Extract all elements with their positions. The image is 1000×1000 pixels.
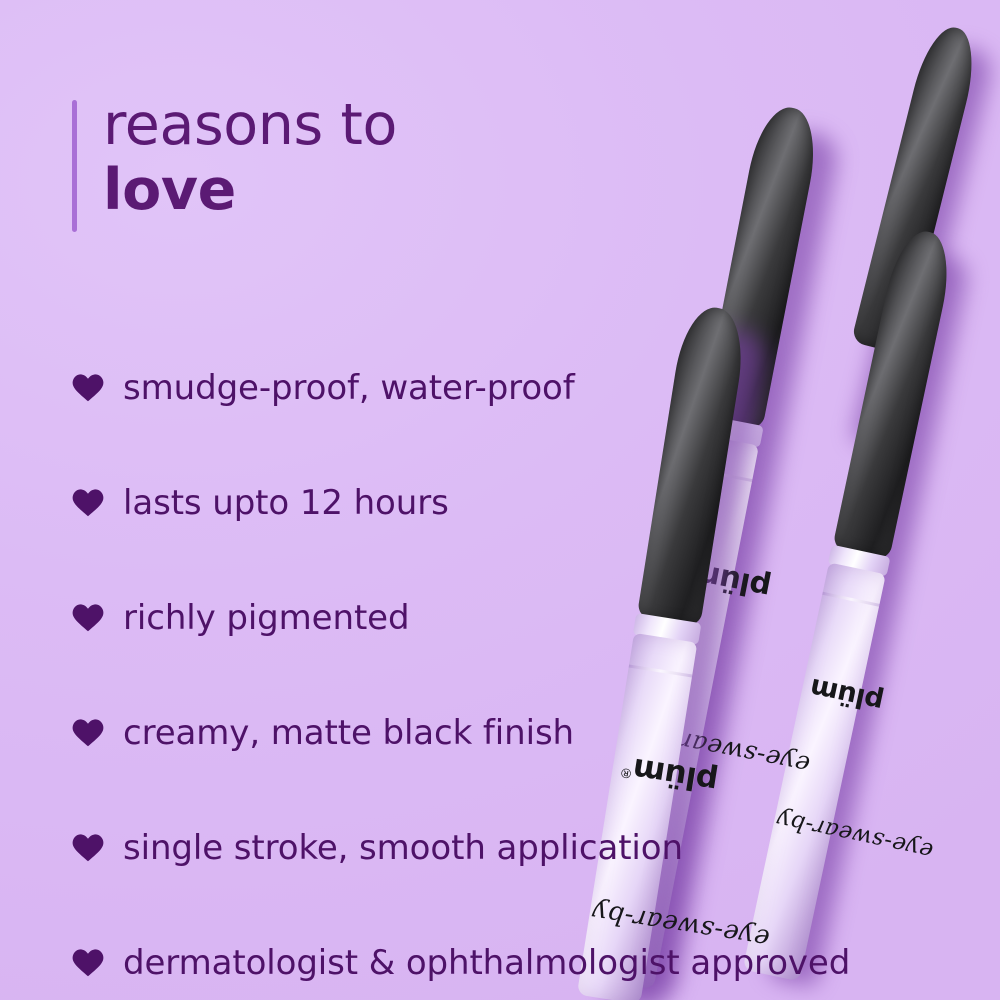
- list-item: single stroke, smooth application: [72, 790, 902, 905]
- list-item-label: dermatologist & ophthalmologist approved: [123, 943, 850, 983]
- list-item-label: richly pigmented: [123, 598, 409, 638]
- list-item-label: single stroke, smooth application: [123, 828, 683, 868]
- title-text-group: reasons to love: [103, 96, 397, 232]
- promo-canvas: plüm eye-swear-by plüm® eye-swear-by: [0, 0, 1000, 1000]
- list-item: dermatologist & ophthalmologist approved: [72, 905, 902, 1000]
- title-accent-bar: [72, 100, 77, 232]
- title-line-1: reasons to: [103, 96, 397, 155]
- heart-icon: [72, 373, 106, 402]
- list-item-label: creamy, matte black finish: [123, 713, 574, 753]
- list-item: richly pigmented: [72, 560, 902, 675]
- list-item-label: lasts upto 12 hours: [123, 483, 449, 523]
- heart-icon: [72, 833, 106, 862]
- list-item: creamy, matte black finish: [72, 675, 902, 790]
- list-item: smudge-proof, water-proof: [72, 330, 902, 445]
- heart-icon: [72, 718, 106, 747]
- title-line-2: love: [103, 155, 397, 227]
- page-title: reasons to love: [72, 96, 397, 232]
- heart-icon: [72, 603, 106, 632]
- list-item: lasts upto 12 hours: [72, 445, 902, 560]
- heart-icon: [72, 488, 106, 517]
- list-item-label: smudge-proof, water-proof: [123, 368, 575, 408]
- heart-icon: [72, 948, 106, 977]
- benefits-list: smudge-proof, water-proof lasts upto 12 …: [72, 330, 902, 1000]
